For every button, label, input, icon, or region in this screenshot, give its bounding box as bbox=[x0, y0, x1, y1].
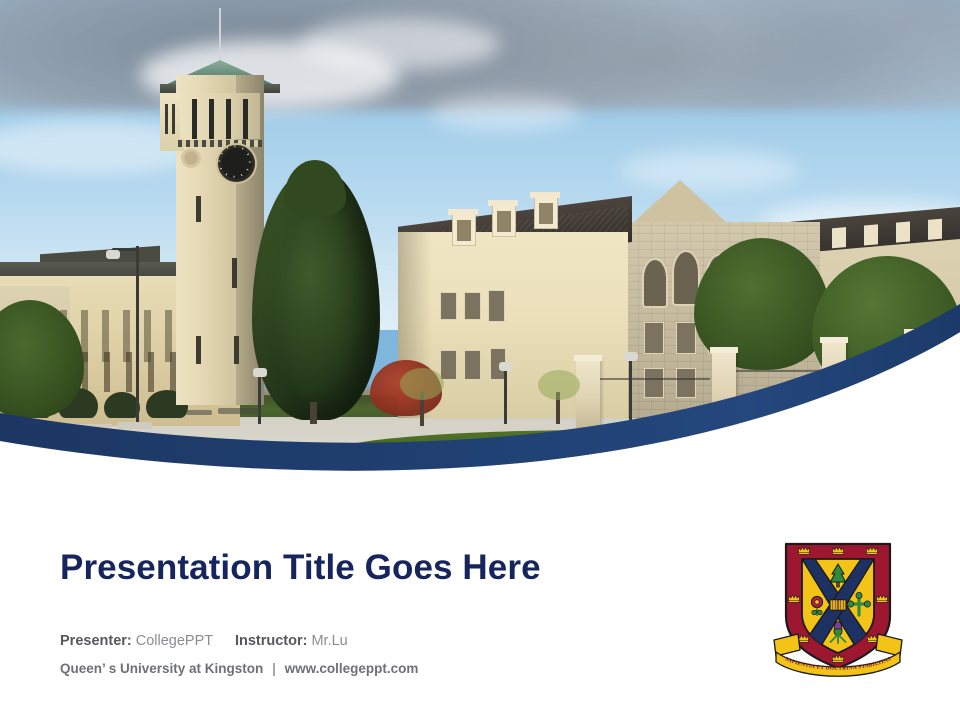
tower-slit-window bbox=[196, 196, 201, 222]
lamp-head bbox=[106, 250, 120, 259]
tower-medallion bbox=[181, 148, 201, 168]
affiliation-text: Queen’ s University at Kingston bbox=[60, 661, 263, 676]
dormer-window bbox=[452, 214, 476, 246]
website-link[interactable]: www.collegeppt.com bbox=[285, 661, 419, 676]
cloud bbox=[300, 18, 500, 70]
university-crest: SAPIENTIA ET DOCTRINA STABILITAS bbox=[770, 528, 906, 684]
dormer-cap bbox=[530, 192, 560, 198]
presenter-value: CollegePPT bbox=[136, 633, 213, 649]
blue-swoosh-divider bbox=[0, 300, 960, 520]
tower-slit-window bbox=[232, 258, 237, 288]
dormer-cap bbox=[488, 200, 518, 206]
tower-side-openings bbox=[165, 104, 179, 134]
affiliation-line: Queen’ s University at Kingston | www.co… bbox=[60, 659, 418, 679]
belfry-openings bbox=[186, 99, 254, 139]
instructor-value: Mr.Lu bbox=[311, 633, 347, 649]
dormer-cap bbox=[448, 209, 478, 215]
presenter-line: Presenter: CollegePPT Instructor: Mr.Lu bbox=[60, 631, 348, 651]
clock-markings bbox=[218, 145, 251, 178]
flagpole bbox=[219, 8, 221, 64]
corbel-band bbox=[178, 140, 262, 147]
instructor-label: Instructor: bbox=[235, 633, 308, 649]
separator: | bbox=[267, 661, 281, 676]
rose-icon bbox=[811, 596, 822, 616]
cloud bbox=[430, 95, 580, 131]
presentation-slide: Presentation Title Goes Here Presenter: … bbox=[0, 0, 960, 720]
presenter-label: Presenter: bbox=[60, 633, 132, 649]
dormer-window bbox=[492, 205, 516, 237]
open-book-icon bbox=[830, 600, 846, 610]
dormer-window bbox=[534, 197, 558, 229]
page-title: Presentation Title Goes Here bbox=[60, 548, 541, 588]
